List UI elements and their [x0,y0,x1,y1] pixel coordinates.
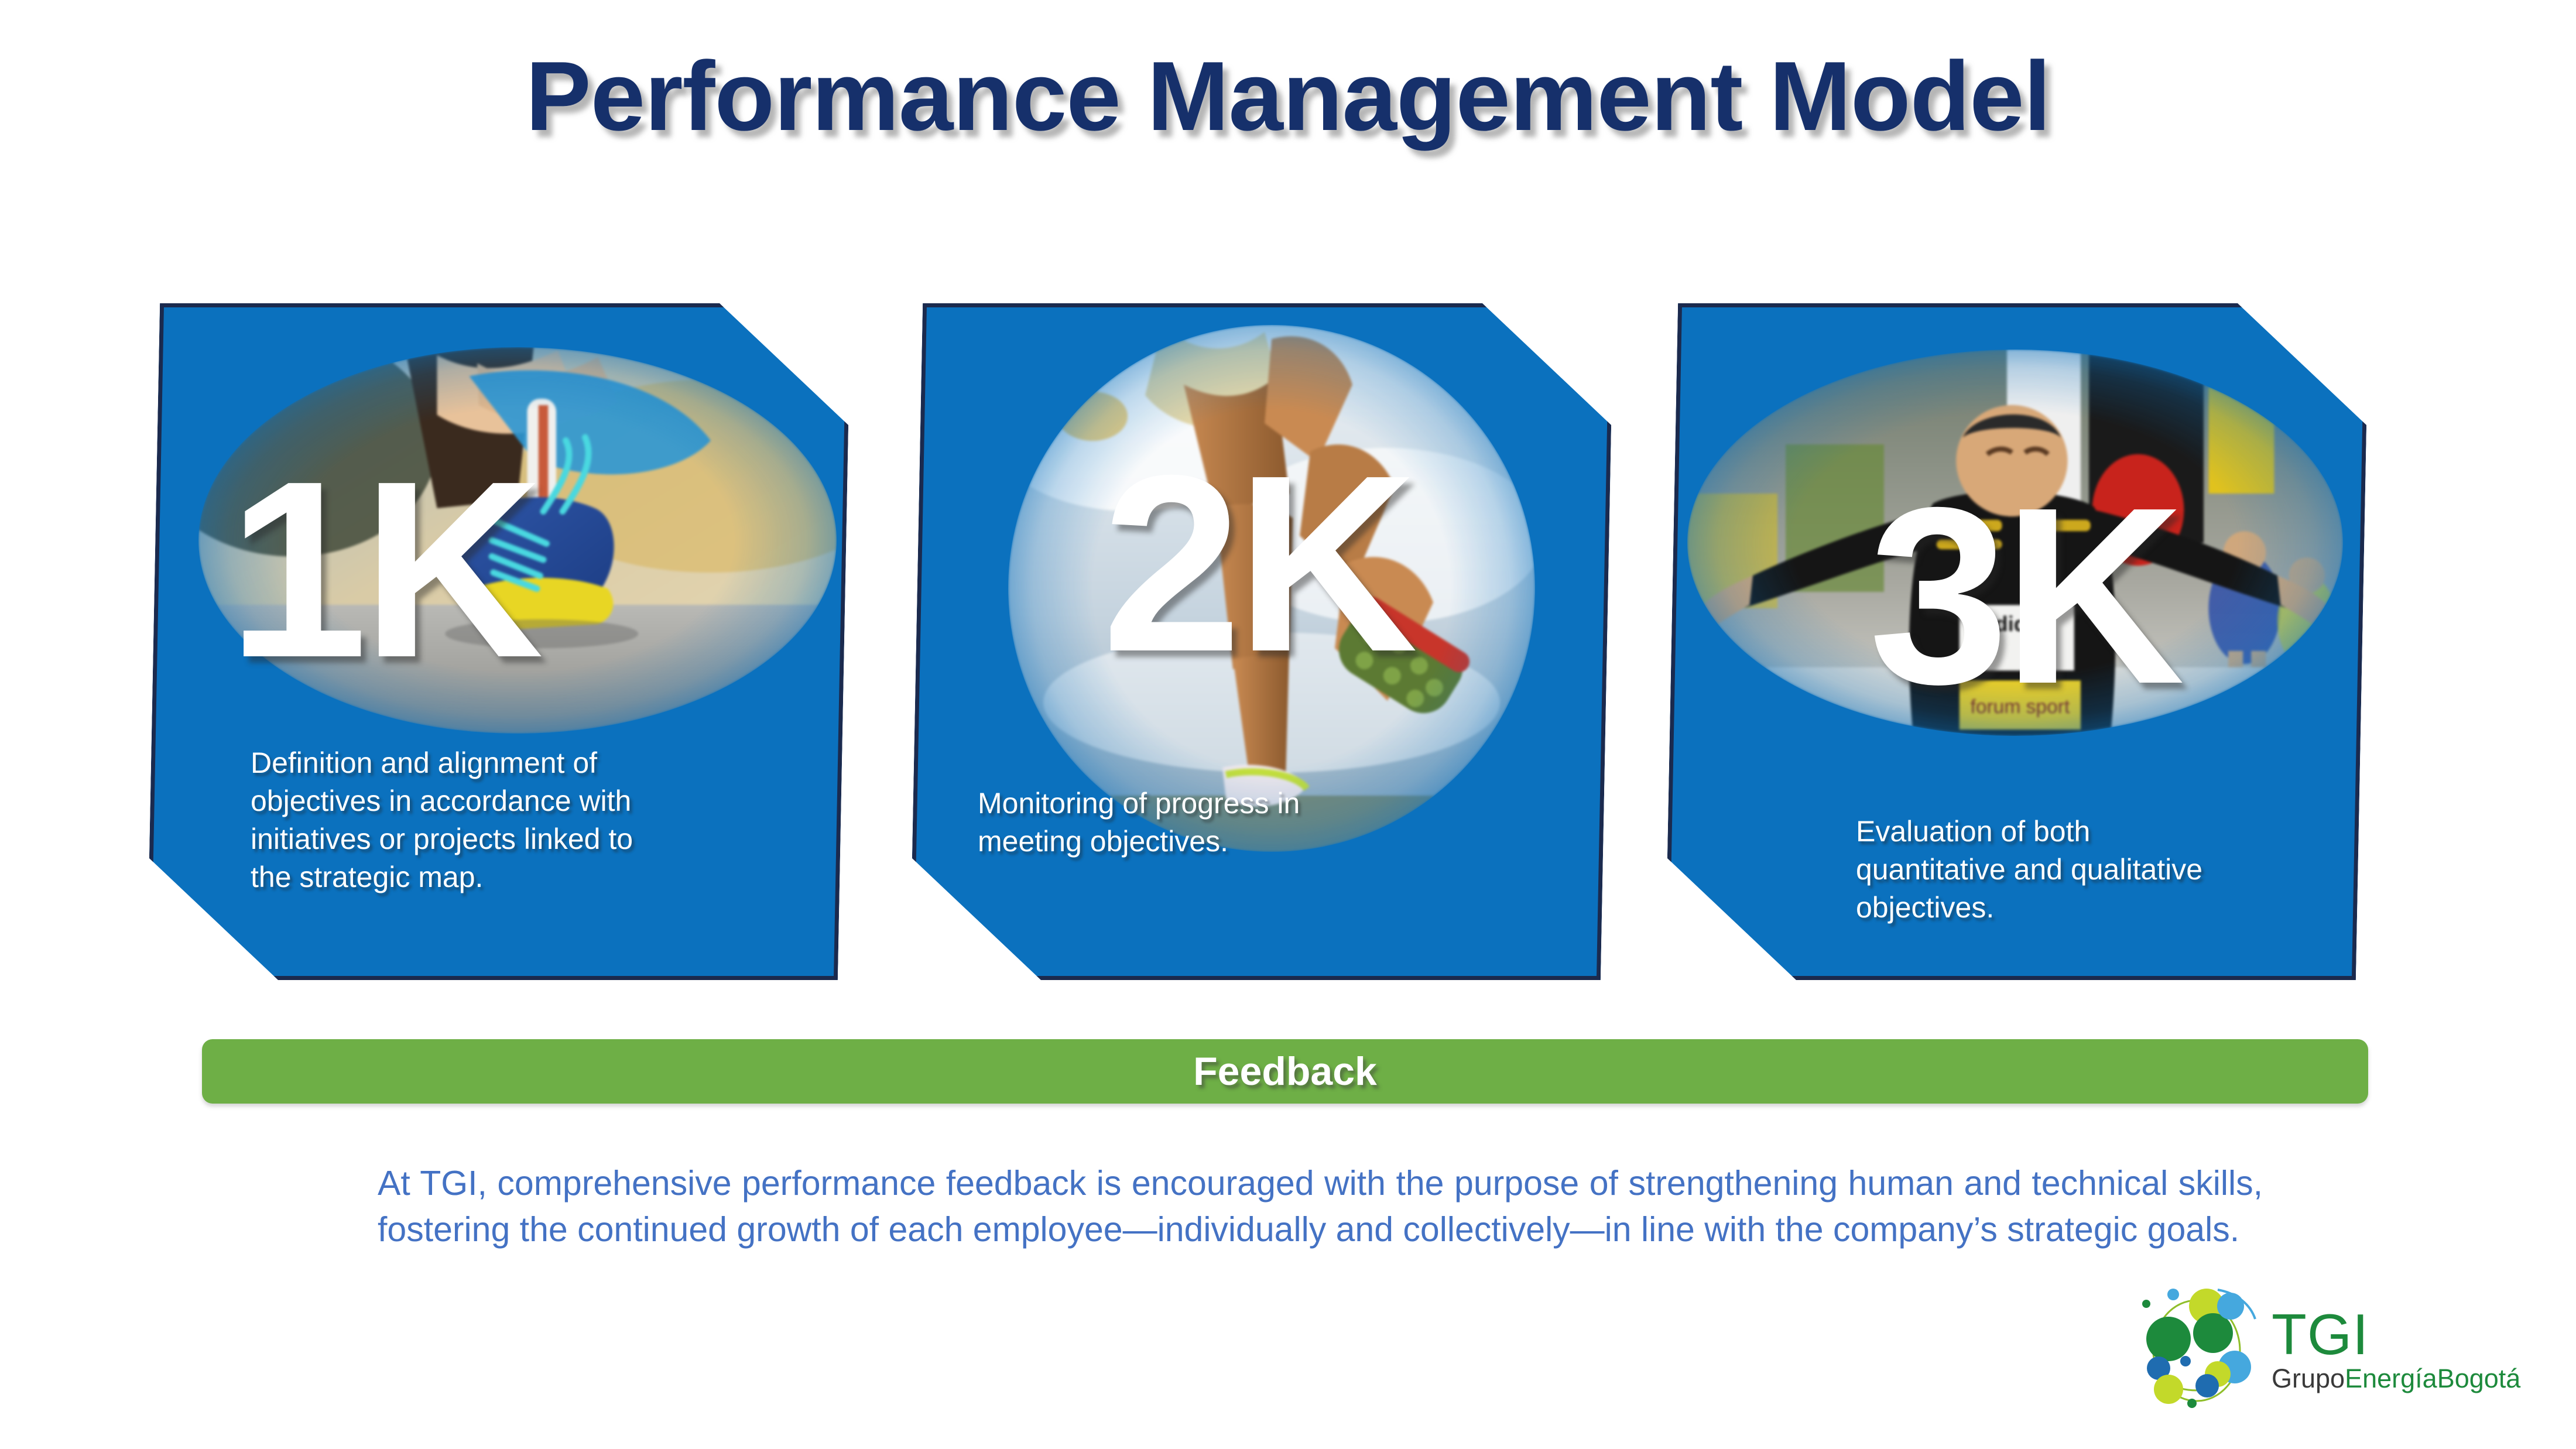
feedback-paragraph: At TGI, comprehensive performance feedba… [378,1160,2263,1253]
card-description-2k: Monitoring of progress in meeting object… [978,785,1329,861]
tgi-tagline: GrupoEnergíaBogotá [2272,1365,2520,1392]
card-shape: 2K [910,303,1614,980]
feedback-label: Feedback [1193,1049,1377,1094]
tgi-tagline-energiabogota: EnergíaBogotá [2345,1364,2520,1393]
tgi-acronym: TGI [2272,1307,2520,1362]
card-badge-3k: 3K [1869,483,2179,710]
tgi-tagline-grupo: Grupo [2272,1364,2345,1393]
card-description-1k: Definition and alignment of objectives i… [251,744,660,896]
feedback-banner[interactable]: Feedback [202,1039,2368,1104]
tgi-molecule-bubbles-icon [2131,1285,2266,1420]
card-inner: 2K [920,307,1603,976]
card-description-3k: Evaluation of both quantitative and qual… [1856,813,2231,927]
tgi-logo: TGI GrupoEnergíaBogotá [2131,1285,2424,1431]
card-badge-2k: 2K [1102,451,1412,677]
tgi-wordmark: TGI GrupoEnergíaBogotá [2272,1307,2520,1392]
stage-card-2k[interactable]: 2K [916,303,1607,980]
card-badge-1k: 1K [228,457,538,683]
